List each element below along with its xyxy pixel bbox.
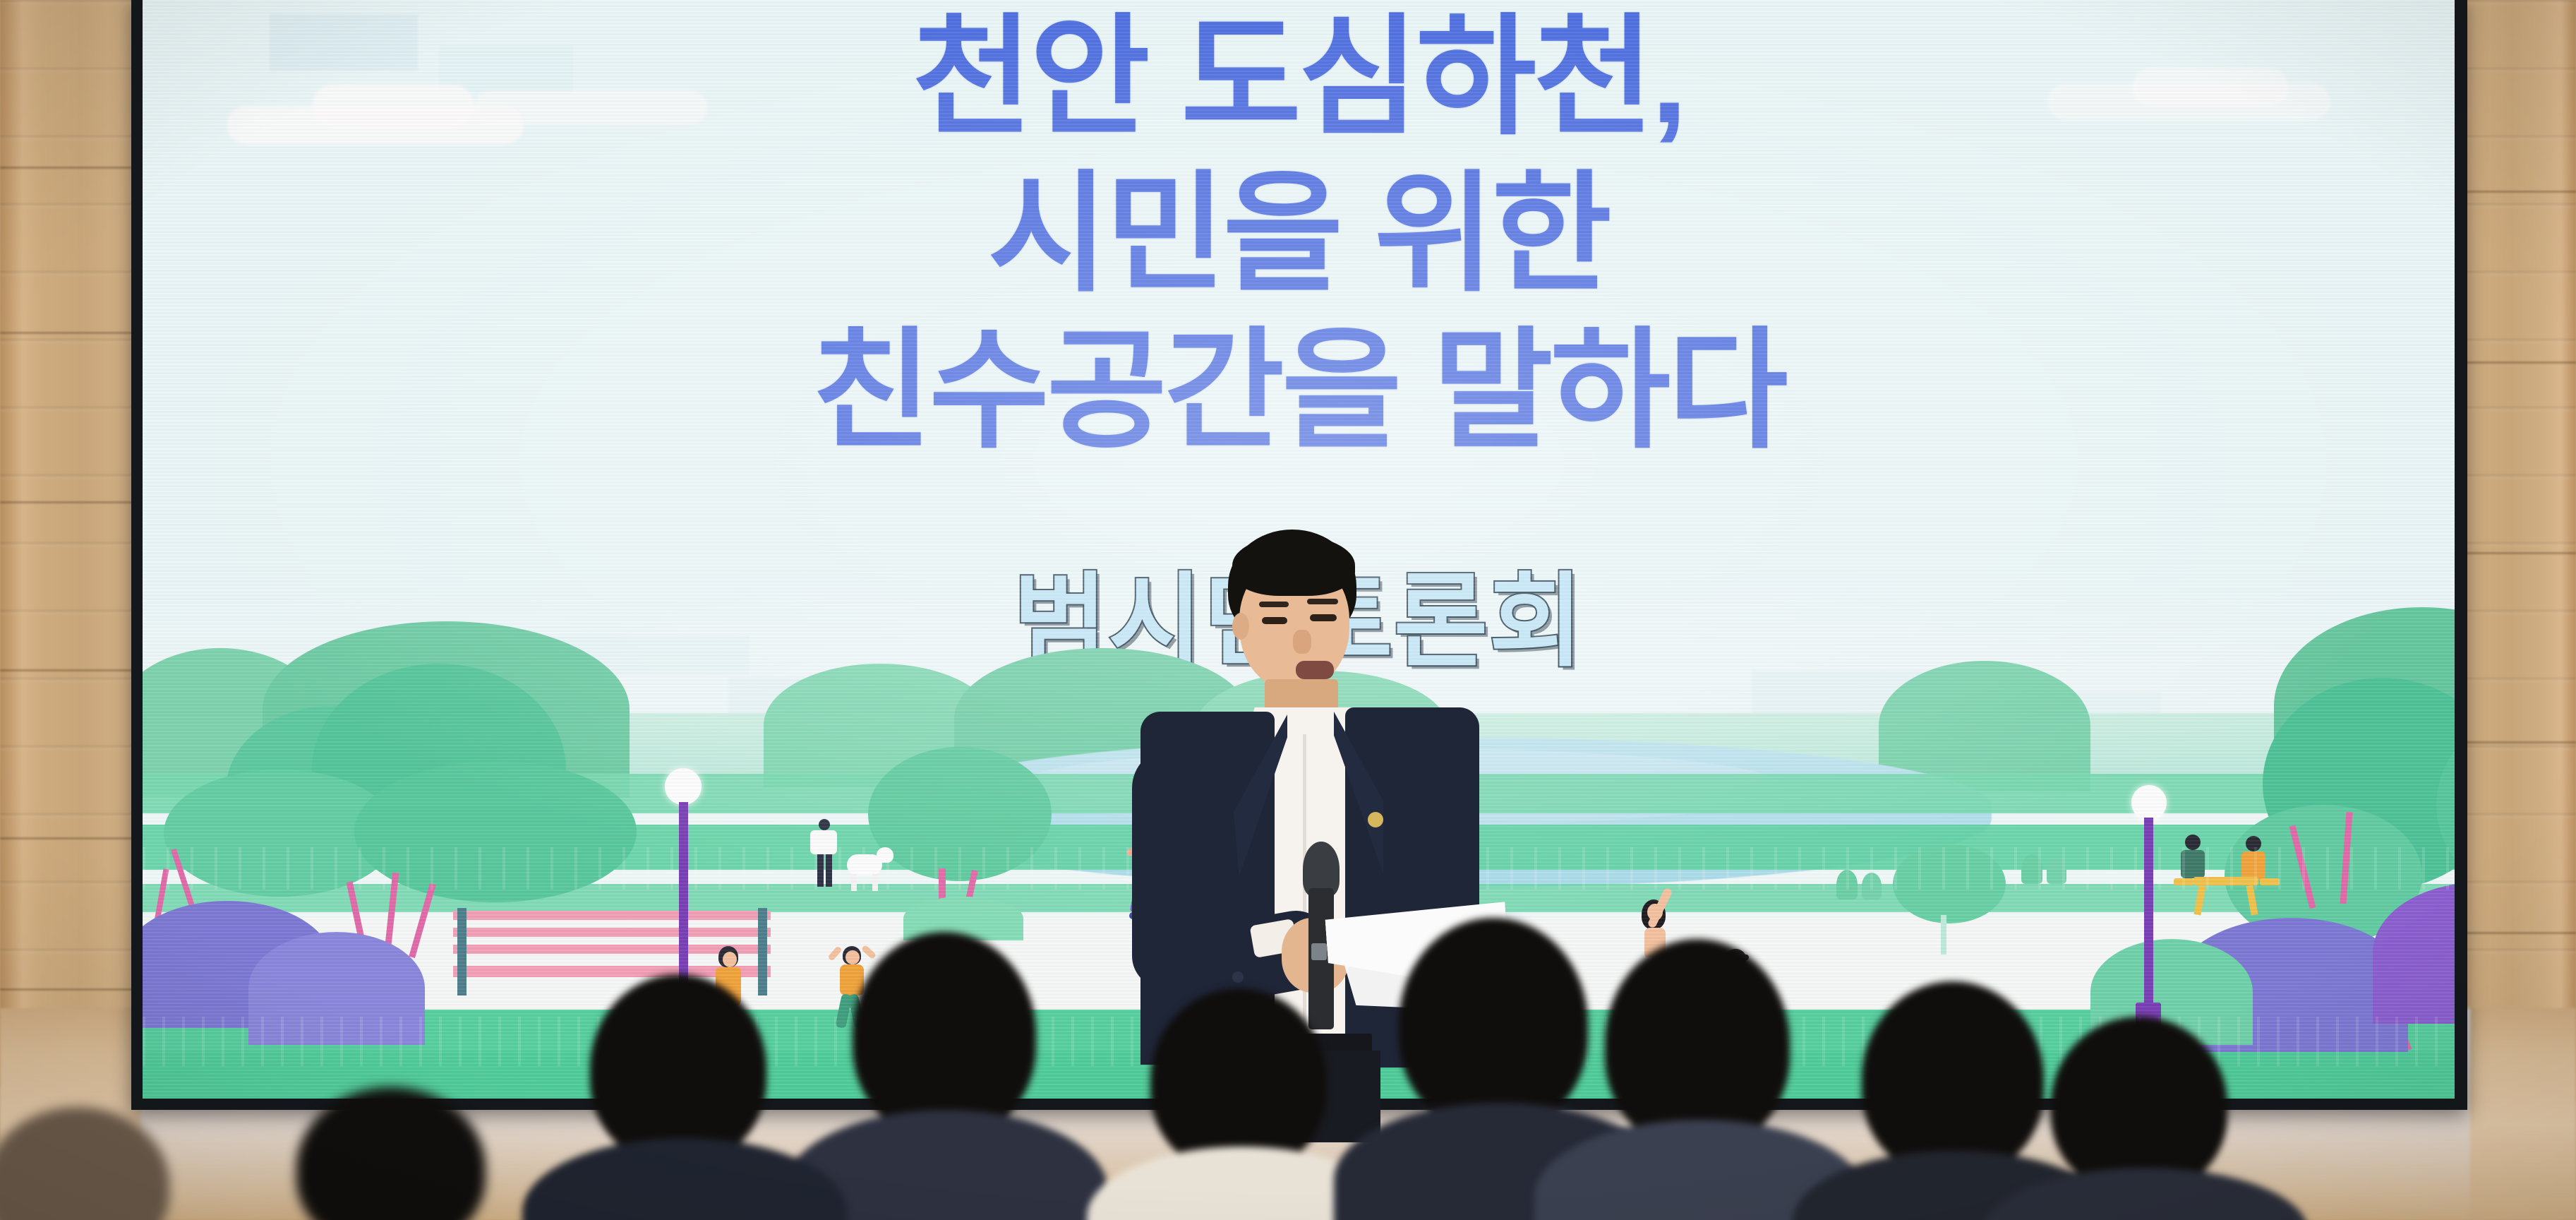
speaker-eye [1262,617,1287,624]
wall-seam [2449,932,2576,934]
audience-member [0,1107,226,1220]
speaker-eye [1310,614,1337,621]
wood-slat-wall-right [2449,0,2576,1101]
audience-member [254,1087,536,1220]
speaker-eyebrow [1307,599,1338,604]
wall-seam [2449,741,2576,743]
slide-title-line-2: 시민을 위한 [143,169,2455,300]
photo-scene: 천안 도심하천, 시민을 위한 친수공간을 말하다 범시민토론회 [0,0,2576,1220]
audience-member [2004,1017,2287,1220]
speaker-hair-fringe [1232,535,1355,596]
street-lamp-globe [665,768,702,805]
audience-member [1553,939,1849,1220]
microphone-logo [1311,943,1327,960]
park-bench-leg [457,908,467,995]
slide-title-line-3: 친수공간을 말하다 [143,326,2455,457]
wall-seam [2449,191,2576,193]
speaker-nose [1293,630,1311,654]
speaker-eyebrow [1259,602,1289,607]
speaker-ear [1232,613,1249,640]
park-bench-backrest [453,928,771,937]
street-lamp-globe [2131,785,2167,820]
wall-seam [2449,361,2576,364]
audience-member [798,932,1094,1220]
tree-trunk [1941,915,1946,955]
lapel-pin [1368,812,1383,827]
audience-member [543,974,826,1220]
park-bench-backrest [453,911,771,920]
jacket-button [1232,971,1244,983]
slide-title-line-1: 천안 도심하천, [143,13,2455,143]
wall-seam [2449,552,2576,554]
speaker-mouth [1296,661,1334,679]
